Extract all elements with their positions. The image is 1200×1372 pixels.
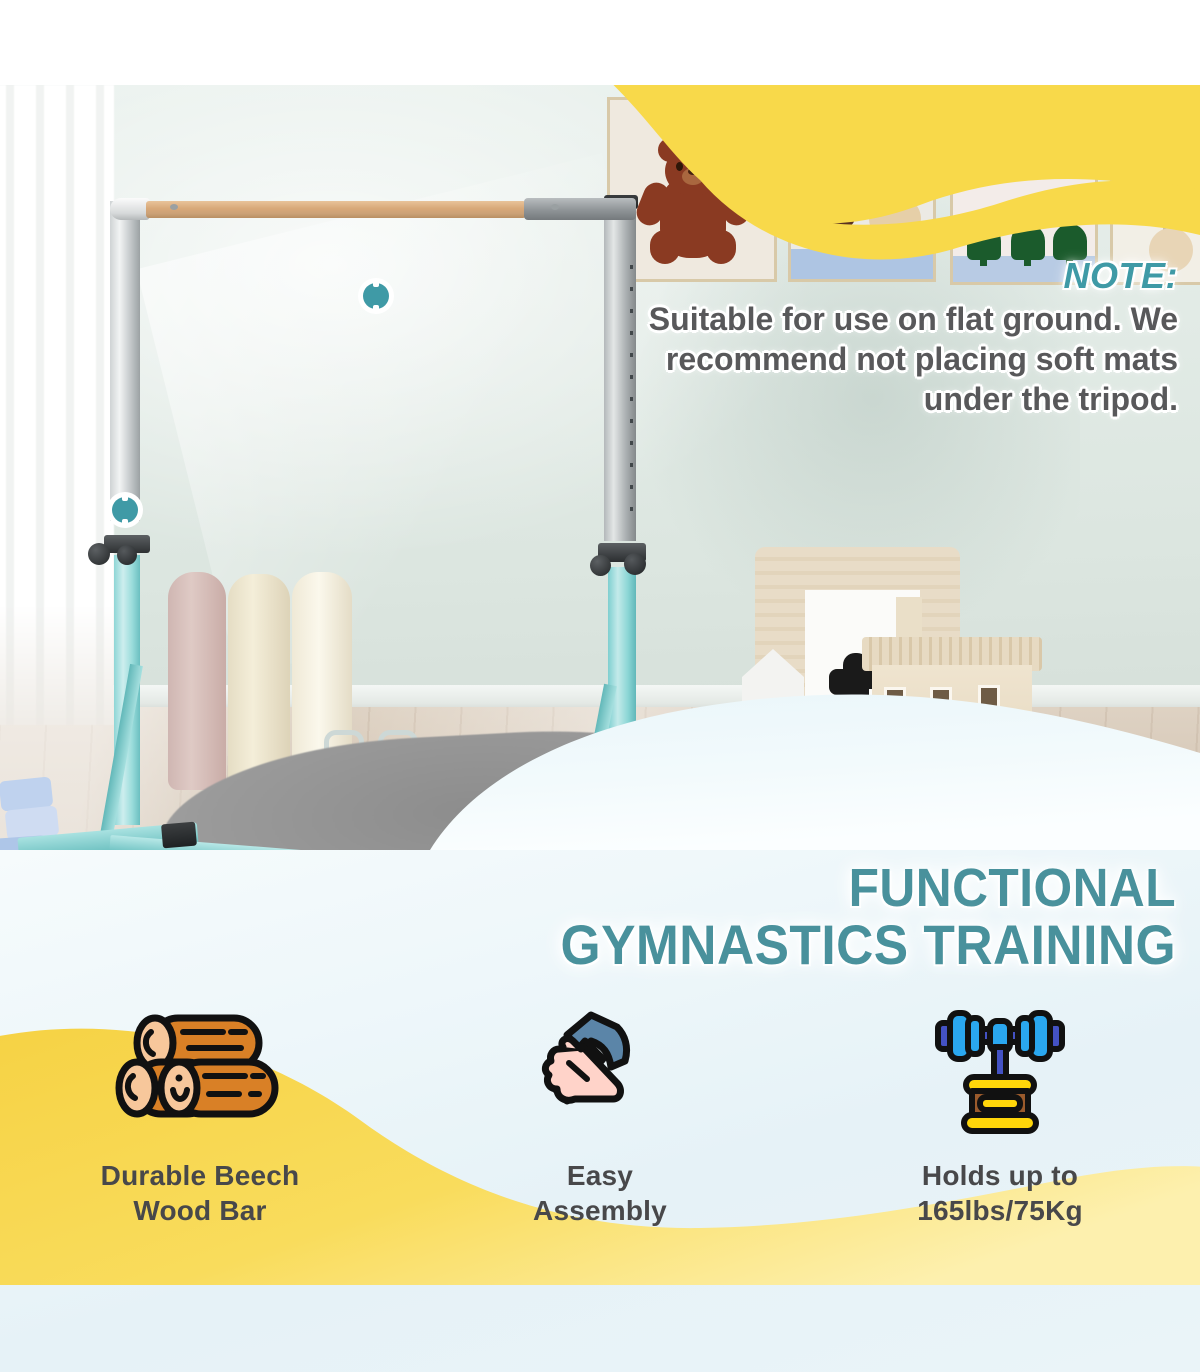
foot-end-cap — [639, 829, 668, 849]
right-adjust-dial — [590, 555, 611, 576]
bar-screw — [170, 204, 178, 210]
feature-weight-capacity: Holds up to165lbs/75Kg — [800, 1000, 1200, 1270]
foot-end-cap — [161, 822, 197, 849]
left-teal-knob — [112, 497, 138, 523]
feature-easy-assembly: EasyAssembly — [400, 1000, 800, 1270]
bar-center-teal-knob — [363, 283, 389, 309]
beech-wood-bar — [146, 201, 526, 218]
note-title: NOTE: — [618, 255, 1178, 297]
feature-label: EasyAssembly — [533, 1158, 667, 1228]
feature-label: Durable BeechWood Bar — [101, 1158, 300, 1228]
left-adjust-dial — [117, 545, 137, 565]
lifestyle-photo — [0, 85, 1200, 850]
hammer-hand-icon — [525, 1000, 675, 1140]
gymnastics-bar-product — [0, 85, 1200, 850]
right-adjust-dial — [624, 553, 646, 575]
feature-row: Durable BeechWood Bar Eas — [0, 1000, 1200, 1270]
wood-logs-icon — [105, 1000, 295, 1140]
headline-line1: FUNCTIONAL — [849, 858, 1176, 918]
feature-label: Holds up to165lbs/75Kg — [917, 1158, 1083, 1228]
headline: FUNCTIONAL GYMNASTICS TRAINING — [96, 861, 1200, 973]
feature-durable-beech-wood-bar: Durable BeechWood Bar — [0, 1000, 400, 1270]
product-feature-page: NOTE: Suitable for use on flat ground. W… — [0, 0, 1200, 1372]
dumbbell-pedestal-icon — [920, 1000, 1080, 1140]
left-adjust-dial — [88, 543, 110, 565]
headline-line2: GYMNASTICS TRAINING — [96, 916, 1176, 973]
left-post-upper-silver — [110, 201, 140, 521]
bar-screw — [551, 204, 559, 210]
bar-left-sleeve — [110, 198, 150, 220]
note-callout: NOTE: Suitable for use on flat ground. W… — [618, 255, 1178, 419]
bar-right-sleeve — [524, 198, 636, 220]
note-body: Suitable for use on flat ground. We reco… — [618, 299, 1178, 419]
